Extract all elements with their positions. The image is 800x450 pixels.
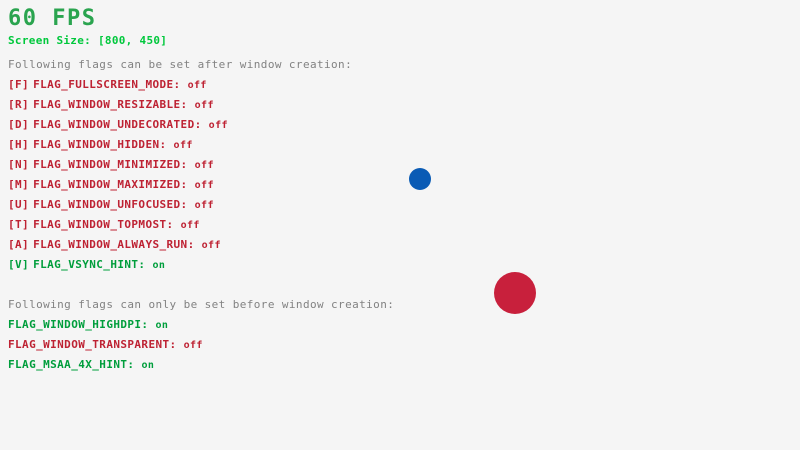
flag-shortcut-key: [N] (8, 158, 29, 171)
flag-state-value: on (141, 360, 154, 371)
flag-state-value: off (174, 140, 193, 151)
flag-name: FLAG_WINDOW_TOPMOST: (33, 218, 173, 231)
flag-state-value: on (155, 320, 168, 331)
flag-state-value: off (181, 220, 200, 231)
flag-state-value: off (184, 340, 203, 351)
flag-row[interactable]: [V]FLAG_VSYNC_HINT: on (8, 258, 165, 273)
fps-counter: 60 FPS (8, 6, 96, 32)
flag-shortcut-key: [U] (8, 198, 29, 211)
flag-row[interactable]: [R]FLAG_WINDOW_RESIZABLE: off (8, 98, 214, 113)
flag-shortcut-key: [M] (8, 178, 29, 191)
flag-name: FLAG_WINDOW_MINIMIZED: (33, 158, 188, 171)
flag-row: FLAG_WINDOW_HIGHDPI: on (8, 318, 168, 333)
flag-state-value: off (195, 100, 214, 111)
flag-row[interactable]: [T]FLAG_WINDOW_TOPMOST: off (8, 218, 200, 233)
flag-shortcut-key: [H] (8, 138, 29, 151)
flag-row[interactable]: [F]FLAG_FULLSCREEN_MODE: off (8, 78, 207, 93)
flag-state-value: on (152, 260, 165, 271)
flag-state-value: off (195, 200, 214, 211)
flag-row[interactable]: [N]FLAG_WINDOW_MINIMIZED: off (8, 158, 214, 173)
flag-state-value: off (195, 180, 214, 191)
flag-shortcut-key: [T] (8, 218, 29, 231)
flag-row[interactable]: [U]FLAG_WINDOW_UNFOCUSED: off (8, 198, 214, 213)
flag-shortcut-key: [V] (8, 258, 29, 271)
flag-state-value: off (202, 240, 221, 251)
flag-shortcut-key: [F] (8, 78, 29, 91)
flag-name: FLAG_WINDOW_HIGHDPI: (8, 318, 148, 331)
flag-name: FLAG_WINDOW_RESIZABLE: (33, 98, 188, 111)
screen-size-label: Screen Size: [800, 450] (8, 34, 167, 48)
heading-flags-before-creation: Following flags can only be set before w… (8, 298, 394, 312)
flag-row[interactable]: [D]FLAG_WINDOW_UNDECORATED: off (8, 118, 228, 133)
flag-row: FLAG_MSAA_4X_HINT: on (8, 358, 154, 373)
flag-name: FLAG_WINDOW_HIDDEN: (33, 138, 166, 151)
flag-shortcut-key: [A] (8, 238, 29, 251)
flag-name: FLAG_WINDOW_MAXIMIZED: (33, 178, 188, 191)
bouncing-ball-red (494, 272, 536, 314)
heading-flags-after-creation: Following flags can be set after window … (8, 58, 352, 72)
flag-row[interactable]: [M]FLAG_WINDOW_MAXIMIZED: off (8, 178, 214, 193)
flag-name: FLAG_WINDOW_UNFOCUSED: (33, 198, 188, 211)
flag-shortcut-key: [D] (8, 118, 29, 131)
raylib-window-canvas: 60 FPS Screen Size: [800, 450] Following… (0, 0, 800, 450)
flag-name: FLAG_WINDOW_UNDECORATED: (33, 118, 202, 131)
flag-name: FLAG_WINDOW_ALWAYS_RUN: (33, 238, 195, 251)
flag-state-value: off (188, 80, 207, 91)
flag-state-value: off (195, 160, 214, 171)
flag-name: FLAG_FULLSCREEN_MODE: (33, 78, 180, 91)
flag-row: FLAG_WINDOW_TRANSPARENT: off (8, 338, 203, 353)
flag-name: FLAG_MSAA_4X_HINT: (8, 358, 134, 371)
flag-row[interactable]: [H]FLAG_WINDOW_HIDDEN: off (8, 138, 193, 153)
flag-name: FLAG_WINDOW_TRANSPARENT: (8, 338, 177, 351)
flag-shortcut-key: [R] (8, 98, 29, 111)
flag-name: FLAG_VSYNC_HINT: (33, 258, 145, 271)
bouncing-ball-blue (409, 168, 431, 190)
flag-state-value: off (209, 120, 228, 131)
flag-row[interactable]: [A]FLAG_WINDOW_ALWAYS_RUN: off (8, 238, 221, 253)
